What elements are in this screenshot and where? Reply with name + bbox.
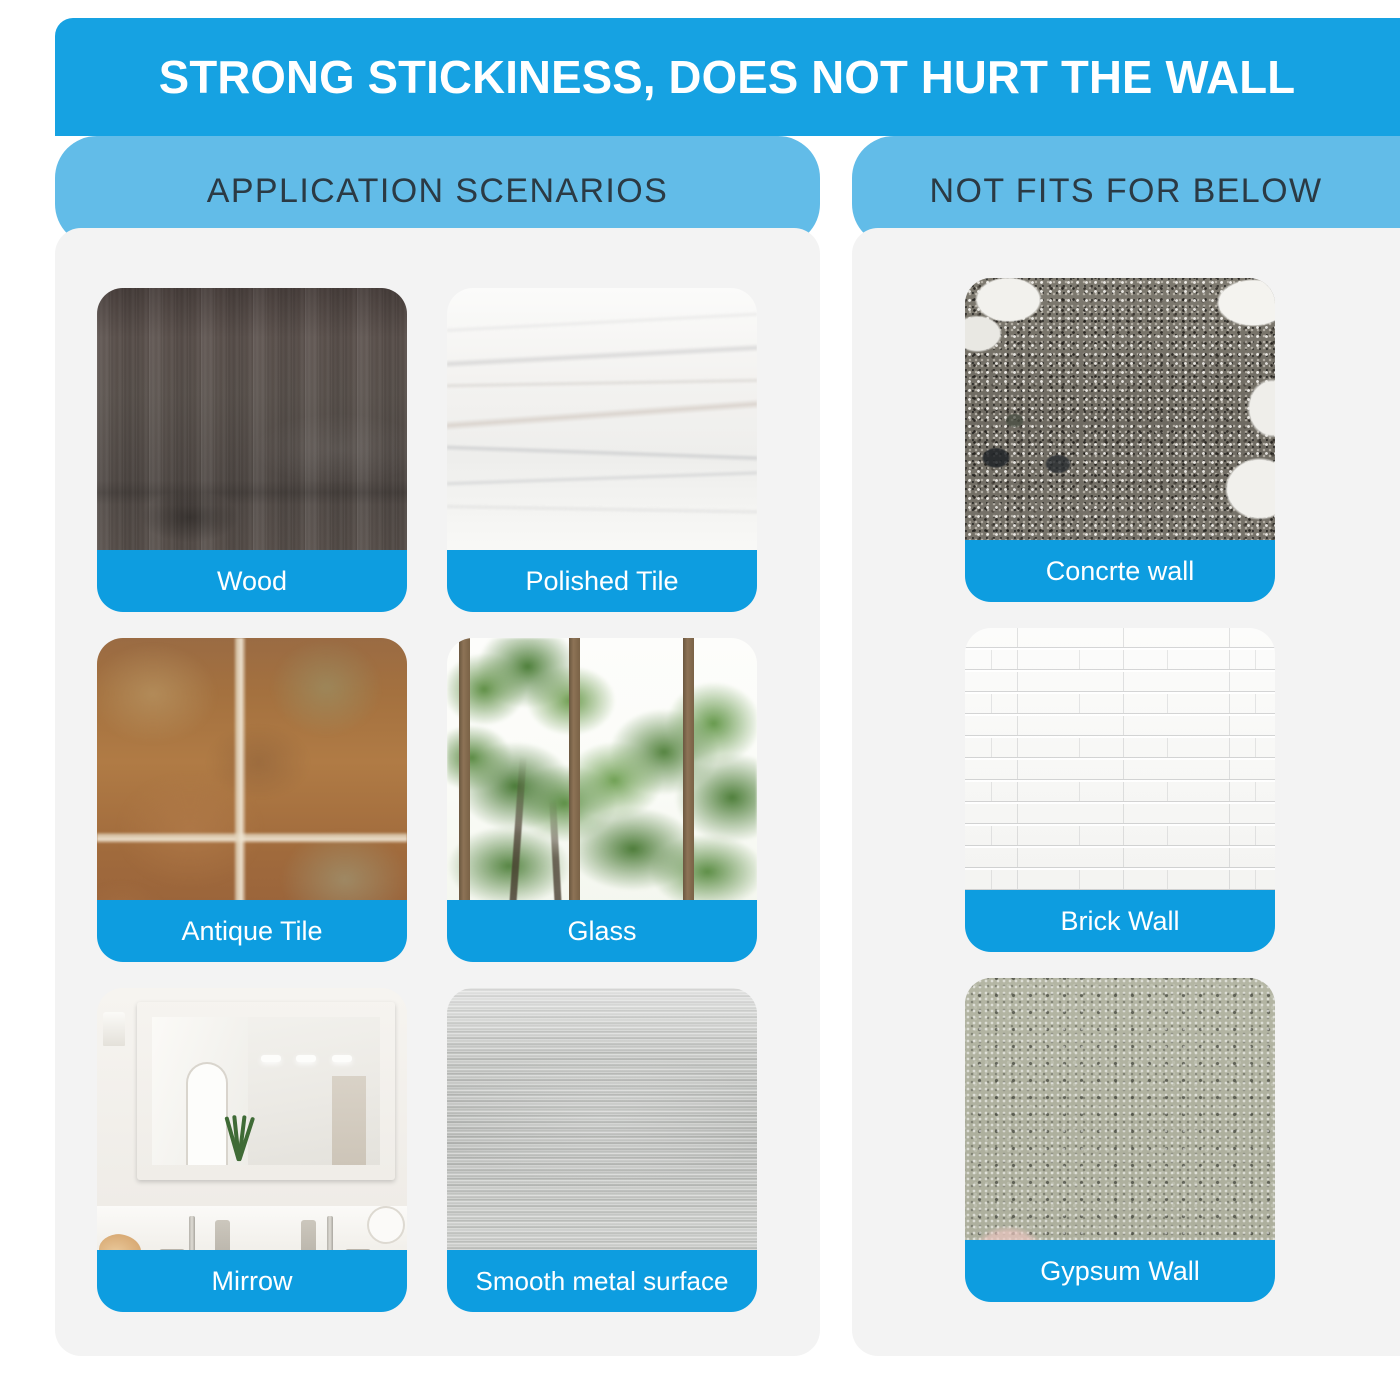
tab-not-fits-for-below-label: NOT FITS FOR BELOW — [930, 172, 1323, 211]
card-glass[interactable]: Glass — [447, 638, 757, 948]
card-antique-tile[interactable]: Antique Tile — [97, 638, 407, 948]
application-scenarios-card-grid: Wood Polished Tile Antique Tile Glass — [97, 288, 757, 1298]
wall-sconce — [103, 1012, 125, 1046]
mirror-glass — [152, 1017, 380, 1165]
card-gypsum-wall[interactable]: Gypsum Wall — [965, 978, 1275, 1288]
not-fits-card-grid: Concrte wall Brick Wall Gypsum Wall — [965, 278, 1275, 1288]
card-polished-tile[interactable]: Polished Tile — [447, 288, 757, 598]
card-polished-tile-label: Polished Tile — [447, 550, 757, 612]
card-brick-wall[interactable]: Brick Wall — [965, 628, 1275, 938]
card-concrete-wall-label: Concrte wall — [965, 540, 1275, 602]
card-mirrow-label: Mirrow — [97, 1250, 407, 1312]
card-wood-label: Wood — [97, 550, 407, 612]
card-concrete-wall[interactable]: Concrte wall — [965, 278, 1275, 588]
page-title: STRONG STICKINESS, DOES NOT HURT THE WAL… — [159, 50, 1296, 104]
mirror-reflection-door — [332, 1076, 366, 1165]
card-mirrow[interactable]: Mirrow — [97, 988, 407, 1298]
header-banner: STRONG STICKINESS, DOES NOT HURT THE WAL… — [55, 18, 1400, 136]
mirror-reflection-plant — [220, 1109, 254, 1161]
mirror-frame — [137, 1002, 395, 1180]
card-smooth-metal-surface-label: Smooth metal surface — [447, 1250, 757, 1312]
card-gypsum-wall-label: Gypsum Wall — [965, 1240, 1275, 1302]
ceiling-light — [261, 1055, 281, 1062]
ceiling-light — [332, 1055, 352, 1062]
card-brick-wall-label: Brick Wall — [965, 890, 1275, 952]
window-foliage — [447, 638, 757, 923]
ceiling-light — [296, 1055, 316, 1062]
tab-application-scenarios-label: APPLICATION SCENARIOS — [207, 172, 668, 211]
card-antique-tile-label: Antique Tile — [97, 900, 407, 962]
card-smooth-metal-surface[interactable]: Smooth metal surface — [447, 988, 757, 1298]
card-wood[interactable]: Wood — [97, 288, 407, 598]
card-glass-label: Glass — [447, 900, 757, 962]
vanity-round-mirror — [369, 1208, 403, 1242]
